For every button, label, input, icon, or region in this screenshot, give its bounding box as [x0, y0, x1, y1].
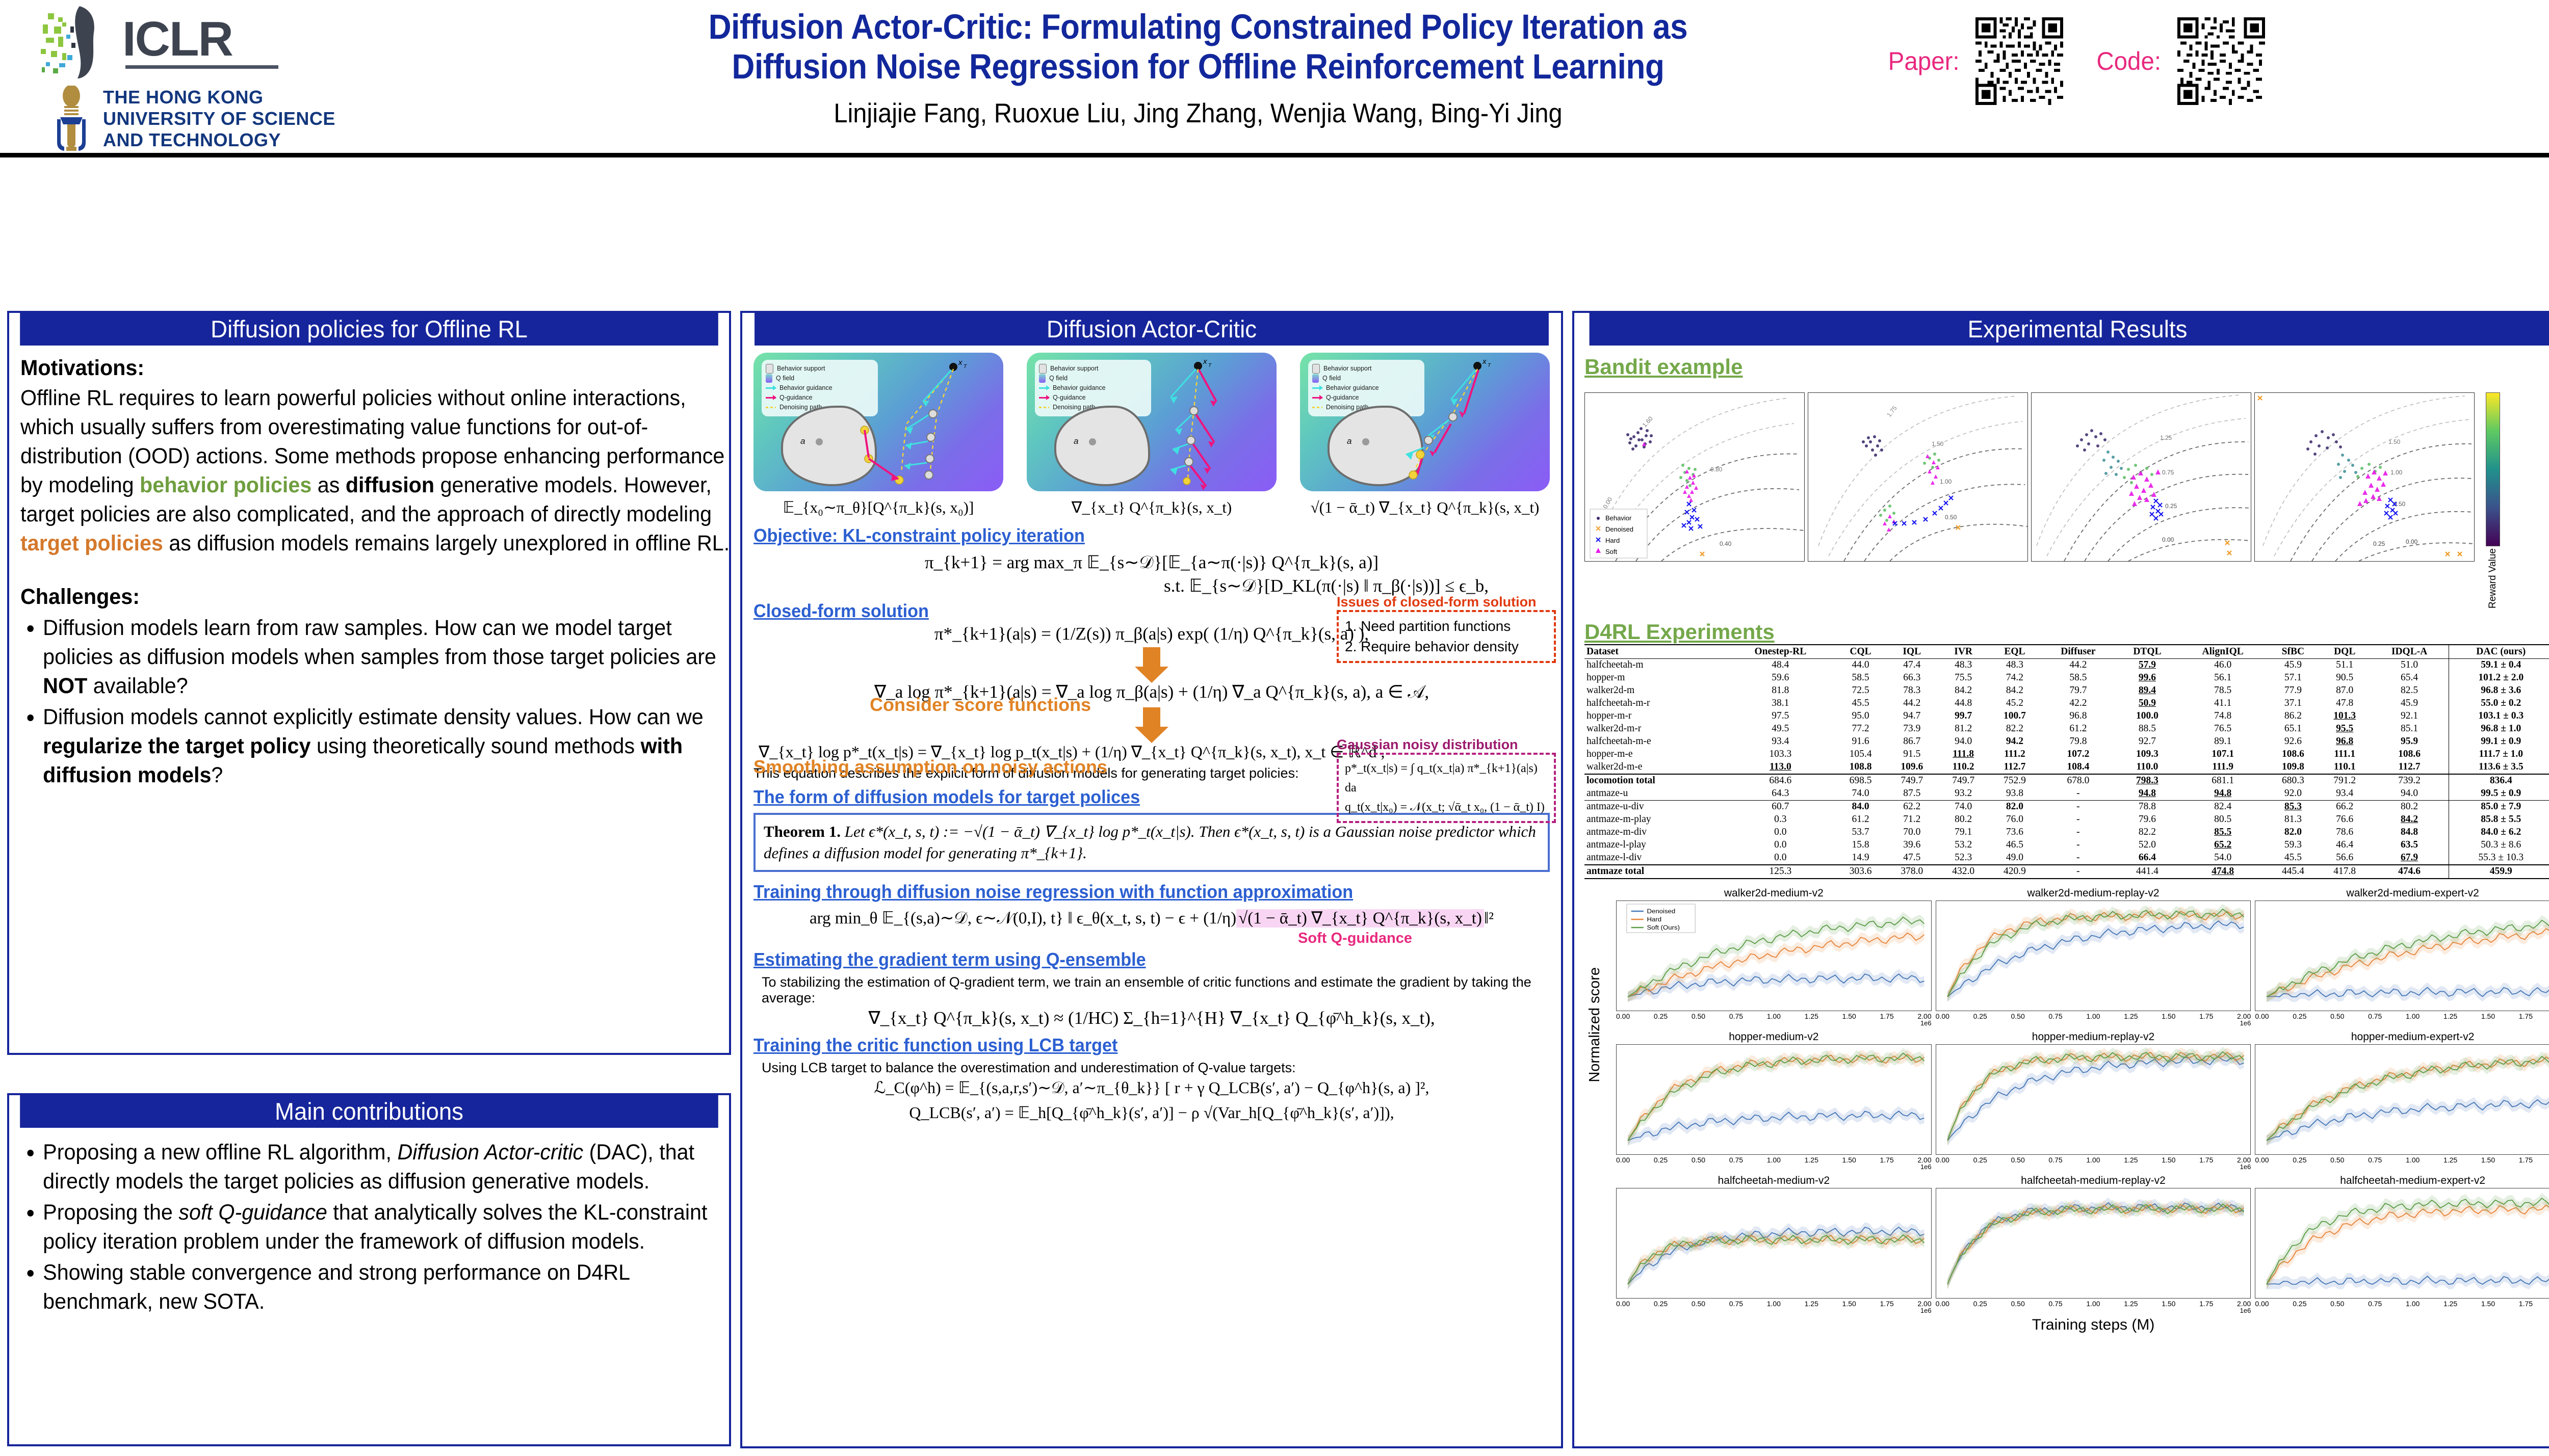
table-cell: 57.1 — [2267, 672, 2319, 684]
x-tick: 1.50 — [2481, 1156, 2495, 1164]
row-label: antmaze-l-play — [1584, 839, 1726, 852]
table-cell: 77.2 — [1835, 723, 1886, 735]
challenge-1-b: available? — [87, 674, 188, 698]
qr-code-block: Paper: — [1886, 17, 2265, 105]
table-cell: 56.6 — [2319, 852, 2371, 865]
table-cell: 432.0 — [1938, 865, 1989, 879]
curve-exponent: 1e6 — [1616, 1163, 1932, 1171]
table-cell: 82.2 — [2116, 826, 2178, 839]
curve-plot — [1936, 1188, 2251, 1299]
table-cell: 67.9 — [2371, 852, 2449, 865]
iclr-wordmark: ICLR — [122, 11, 232, 67]
x-tick: 1.50 — [2481, 1300, 2495, 1308]
curve-plot — [1936, 1044, 2251, 1155]
equation-training-part-a: arg min_θ 𝔼_{(s,a)∼𝒟, ϵ∼𝒩(0,I), t} ‖ ϵ_θ… — [810, 909, 1236, 928]
curve-title: walker2d-medium-expert-v2 — [2255, 887, 2549, 899]
equation-lcb-target: Q_LCB(s′, a′) = 𝔼_h[Q_{φ̄^h_k}(s′, a′)] … — [753, 1103, 1550, 1122]
x-tick: 0.00 — [2255, 1300, 2269, 1308]
table-cell: 86.2 — [2267, 710, 2319, 723]
table-cell: 46.4 — [2319, 839, 2371, 852]
table-cell: 445.4 — [2267, 865, 2319, 879]
x-tick: 1.00 — [1767, 1156, 1781, 1164]
table-cell: 94.8 — [2178, 787, 2267, 801]
table-cell: - — [2040, 813, 2116, 826]
challenge-1-a: Diffusion models learn from raw samples.… — [43, 616, 716, 669]
panel-experimental-results: Experimental Results Bandit example 1.60… — [1572, 311, 2549, 1448]
column-header: CQL — [1835, 645, 1886, 659]
table-cell: 113.6 ± 3.5 — [2449, 761, 2549, 774]
x-tick: 0.50 — [1692, 1300, 1705, 1308]
x-tick: 1.25 — [2443, 1156, 2457, 1164]
table-cell: 59.3 — [2267, 839, 2319, 852]
table-cell: 684.6 — [1726, 774, 1835, 787]
curve-title: walker2d-medium-replay-v2 — [1936, 887, 2251, 899]
table-cell: 76.0 — [1989, 813, 2041, 826]
x-tick: 1.75 — [2199, 1300, 2213, 1308]
issue-item-2: 2. Require behavior density — [1345, 637, 1548, 657]
challenges-list: Diffusion models learn from raw samples.… — [20, 614, 740, 790]
svg-text:Hard: Hard — [1605, 537, 1620, 544]
table-cell: 474.6 — [2371, 865, 2449, 879]
x-tick: 1.00 — [1767, 1012, 1781, 1020]
table-cell: 82.0 — [1989, 800, 2041, 813]
table-cell: 95.9 — [2371, 735, 2449, 748]
x-tick: 1.25 — [2124, 1156, 2138, 1164]
x-tick: 1.00 — [2086, 1156, 2100, 1164]
figure-caption-2: ∇_{x_t} Q^{π_k}(s, x_t) — [1027, 498, 1277, 517]
list-item: Diffusion models cannot explicitly estim… — [43, 703, 740, 790]
contribution-2-a: Proposing the — [43, 1200, 178, 1225]
table-cell: 44.2 — [1886, 697, 1938, 710]
table-cell: 62.2 — [1886, 800, 1938, 813]
table-cell: 95.0 — [1835, 710, 1886, 723]
row-label: antmaze-m-play — [1584, 813, 1726, 826]
list-item: Diffusion models learn from raw samples.… — [43, 614, 740, 701]
equation-training-part-b: ‖² — [1484, 909, 1494, 928]
list-item: Proposing the soft Q-guidance that analy… — [43, 1198, 740, 1256]
table-cell: - — [2040, 839, 2116, 852]
challenges-heading: Challenges: — [20, 583, 740, 612]
table-cell: 89.1 — [2178, 735, 2267, 748]
table-cell: 47.8 — [2319, 697, 2371, 710]
x-tick: 0.50 — [2011, 1156, 2025, 1164]
iclr-logo: ICLR — [31, 4, 362, 81]
table-cell: 92.0 — [2267, 787, 2319, 801]
curve-exponent: 1e6 — [1616, 1019, 1932, 1027]
table-row: hopper-m-e103.3105.491.5111.8111.2107.21… — [1584, 748, 2549, 761]
challenge-2-regularize: regularize the target policy — [43, 734, 310, 758]
list-item: Proposing a new offline RL algorithm, Di… — [43, 1138, 740, 1196]
row-label: walker2d-m-r — [1584, 723, 1726, 735]
table-row: halfcheetah-m48.444.047.448.348.344.257.… — [1584, 658, 2549, 672]
hkust-wordmark: THE HONG KONG UNIVERSITY OF SCIENCE AND … — [103, 87, 335, 151]
x-tick: 1.00 — [2406, 1156, 2420, 1164]
section-training: Training through diffusion noise regress… — [753, 881, 1353, 903]
panel-diffusion-actor-critic: Diffusion Actor-Critic Behavior support … — [740, 311, 1563, 1448]
learning-curve-panel: hopper-medium-expert-v20.000.250.500.751… — [2255, 1031, 2549, 1171]
x-tick: 0.75 — [1729, 1300, 1743, 1308]
column-header: DTQL — [2116, 645, 2178, 659]
row-label: antmaze-l-div — [1584, 852, 1726, 865]
table-cell: 46.0 — [2178, 658, 2267, 672]
table-cell: - — [2040, 787, 2116, 801]
illustration-figures: Behavior support Q field Behavior guidan… — [742, 346, 1561, 517]
curve-plot — [2255, 1188, 2549, 1299]
table-cell: 94.2 — [1989, 735, 2041, 748]
table-cell: 51.1 — [2319, 658, 2371, 672]
table-cell: 99.1 ± 0.9 — [2449, 735, 2549, 748]
paper-qr-code[interactable] — [1975, 17, 2063, 105]
column-header: EQL — [1989, 645, 2041, 659]
challenge-2-a: Diffusion models cannot explicitly estim… — [43, 705, 704, 729]
equation-training: arg min_θ 𝔼_{(s,a)∼𝒟, ϵ∼𝒩(0,I), t} ‖ ϵ_θ… — [753, 908, 1550, 928]
author-list: Linjiajie Fang, Ruoxue Liu, Jing Zhang, … — [607, 98, 1789, 129]
table-cell: 48.4 — [1726, 658, 1835, 672]
table-cell: 73.6 — [1989, 826, 2041, 839]
table-row: antmaze total125.3303.6378.0432.0420.9-4… — [1584, 865, 2549, 879]
figure-caption-1: 𝔼_{x₀∼π_θ}[Q^{π_k}(s, x₀)] — [753, 498, 1003, 517]
x-tick: 0.50 — [2330, 1156, 2344, 1164]
curve-x-ticks: 0.000.250.500.751.001.251.501.752.00 — [1616, 1156, 1932, 1164]
x-tick: 0.00 — [1616, 1300, 1630, 1308]
table-cell: - — [2040, 826, 2116, 839]
motivations-target-policies: target policies — [20, 531, 163, 555]
svg-text:1.75: 1.75 — [1885, 405, 1898, 418]
row-label: halfcheetah-m-e — [1584, 735, 1726, 748]
table-row: locomotion total684.6698.5749.7749.7752.… — [1584, 774, 2549, 787]
x-tick: 0.00 — [1936, 1012, 1949, 1020]
column-header: Dataset — [1584, 645, 1726, 659]
table-cell: 65.2 — [2178, 839, 2267, 852]
contribution-1-a: Proposing a new offline RL algorithm, — [43, 1140, 397, 1164]
theorem-label: Theorem 1. — [764, 823, 841, 840]
table-cell: 57.9 — [2116, 658, 2178, 672]
x-tick: 0.25 — [1973, 1156, 1987, 1164]
table-cell: 65.4 — [2371, 672, 2449, 684]
table-cell: 78.5 — [2178, 684, 2267, 697]
table-cell: 84.2 — [1989, 684, 2041, 697]
table-cell: 41.1 — [2178, 697, 2267, 710]
bandit-scatter-4: 1.50 1.00 0.50 0.25 0.00 — [2255, 393, 2474, 561]
table-row: antmaze-m-play0.361.271.280.276.0-79.680… — [1584, 813, 2549, 826]
curve-plot: DenoisedHardSoft (Ours) — [1616, 901, 1932, 1011]
challenge-1-not: NOT — [43, 674, 87, 698]
figure-caption-3: √(1 − ᾱ_t) ∇_{x_t} Q^{π_k}(s, x_t) — [1300, 498, 1550, 517]
learning-curve-panel: hopper-medium-v20.000.250.500.751.001.25… — [1616, 1031, 1932, 1171]
table-cell: 65.1 — [2267, 723, 2319, 735]
column-header: IQL — [1886, 645, 1938, 659]
table-cell: 113.0 — [1726, 761, 1835, 774]
section-q-ensemble: Estimating the gradient term using Q-ens… — [753, 949, 1146, 970]
table-cell: 14.9 — [1835, 852, 1886, 865]
x-tick: 0.25 — [1654, 1300, 1668, 1308]
table-cell: 60.7 — [1726, 800, 1835, 813]
svg-text:x: x — [958, 358, 963, 367]
page-title-line-2: Diffusion Noise Regression for Offline R… — [620, 47, 1776, 87]
table-cell: 15.8 — [1835, 839, 1886, 852]
svg-text:Soft: Soft — [1605, 548, 1618, 555]
table-cell: 99.5 ± 0.9 — [2449, 787, 2549, 801]
gaussian-title: Gaussian noisy distribution — [1337, 737, 1518, 753]
table-cell: 103.1 ± 0.3 — [2449, 710, 2549, 723]
bandit-scatter-2: 1.75 1.50 1.00 0.50 — [1808, 393, 2027, 561]
table-cell: 96.8 ± 1.0 — [2449, 723, 2549, 735]
x-tick: 0.50 — [2011, 1012, 2025, 1020]
table-cell: 93.4 — [2319, 787, 2371, 801]
table-cell: 73.9 — [1886, 723, 1938, 735]
curve-title: halfcheetah-medium-v2 — [1616, 1175, 1932, 1187]
table-cell: 48.3 — [1989, 658, 2041, 672]
x-tick: 0.75 — [1729, 1156, 1743, 1164]
equation-q-ensemble: ∇_{x_t} Q^{π_k}(s, x_t) ≈ (1/HC) Σ_{h=1}… — [753, 1008, 1550, 1028]
issue-item-1: 1. Need partition functions — [1345, 616, 1548, 637]
row-label: halfcheetah-m-r — [1584, 697, 1726, 710]
x-tick: 1.50 — [2481, 1012, 2495, 1020]
x-tick: 0.50 — [1692, 1012, 1705, 1020]
motivations-heading: Motivations: — [20, 354, 740, 383]
table-cell: 125.3 — [1726, 865, 1835, 879]
table-cell: 94.0 — [2371, 787, 2449, 801]
row-label: walker2d-m — [1584, 684, 1726, 697]
table-cell: 112.7 — [2371, 761, 2449, 774]
x-tick: 1.25 — [1805, 1156, 1818, 1164]
bandit-panel-3: 1.25 0.75 0.25 0.00 — [2031, 392, 2251, 562]
table-cell: 79.1 — [1938, 826, 1989, 839]
learning-curves-block: Normalized score walker2d-medium-v2Denoi… — [1584, 887, 2549, 1334]
curves-y-axis-label: Normalized score — [1586, 967, 1603, 1082]
hkust-torch-icon — [46, 86, 97, 152]
table-cell: 58.5 — [1835, 672, 1886, 684]
table-cell: 80.5 — [2178, 813, 2267, 826]
row-label: walker2d-m-e — [1584, 761, 1726, 774]
x-tick: 0.75 — [2048, 1012, 2062, 1020]
x-tick: 0.75 — [2368, 1156, 2382, 1164]
motivations-text-d: as diffusion models remains largely unex… — [163, 531, 730, 555]
table-cell: 64.3 — [1726, 787, 1835, 801]
curves-x-axis-label: Training steps (M) — [1616, 1316, 2549, 1334]
table-row: antmaze-u-div60.784.062.274.082.0-78.882… — [1584, 800, 2549, 813]
table-cell: 0.0 — [1726, 839, 1835, 852]
table-cell: 82.4 — [2178, 800, 2267, 813]
table-cell: 378.0 — [1886, 865, 1938, 879]
table-cell: 110.1 — [2319, 761, 2371, 774]
x-tick: 1.75 — [2519, 1156, 2533, 1164]
x-tick: 1.50 — [2162, 1300, 2175, 1308]
table-cell: 52.3 — [1938, 852, 1989, 865]
table-cell: 53.7 — [1835, 826, 1886, 839]
diffusion-illustration-1: Behavior support Q field Behavior guidan… — [753, 353, 1003, 491]
table-row: walker2d-m-e113.0108.8109.6110.2112.7108… — [1584, 761, 2549, 774]
table-cell: 44.2 — [2040, 658, 2116, 672]
column-header: DAC (ours) — [2449, 645, 2549, 659]
svg-text:Denoised: Denoised — [1605, 525, 1633, 533]
curve-x-ticks: 0.000.250.500.751.001.251.501.752.00 — [1616, 1300, 1932, 1308]
table-cell: 59.1 ± 0.4 — [2449, 658, 2549, 672]
table-cell: 79.6 — [2116, 813, 2178, 826]
table-cell: 108.8 — [1835, 761, 1886, 774]
colorbar-gradient — [2486, 392, 2500, 546]
x-tick: 0.25 — [1973, 1300, 1987, 1308]
x-tick: 1.25 — [1805, 1300, 1818, 1308]
column-header: SfBC — [2267, 645, 2319, 659]
row-label: halfcheetah-m — [1584, 658, 1726, 672]
svg-text:0.00: 0.00 — [2162, 536, 2174, 543]
table-row: antmaze-l-play0.015.839.653.246.5-52.065… — [1584, 839, 2549, 852]
curve-x-ticks: 0.000.250.500.751.001.251.501.752.00 — [1936, 1156, 2251, 1164]
table-cell: 85.3 — [2267, 800, 2319, 813]
svg-text:0.00: 0.00 — [2406, 538, 2418, 545]
curve-exponent: 1e6 — [2255, 1019, 2549, 1027]
table-cell: 103.3 — [1726, 748, 1835, 761]
x-tick: 0.75 — [2048, 1300, 2062, 1308]
table-cell: 80.2 — [1938, 813, 1989, 826]
paper-qr-label: Paper: — [1888, 46, 1960, 76]
svg-text:1.00: 1.00 — [2390, 469, 2403, 476]
x-tick: 1.75 — [1880, 1300, 1893, 1308]
table-cell: 108.4 — [2040, 761, 2116, 774]
table-cell: 45.2 — [1989, 697, 2041, 710]
curve-legend-label: Hard — [1647, 916, 1661, 922]
page-title-line-1: Diffusion Actor-Critic: Formulating Cons… — [620, 7, 1776, 47]
x-tick: 0.50 — [2330, 1300, 2344, 1308]
x-tick: 1.00 — [2086, 1300, 2100, 1308]
column-header: DQL — [2319, 645, 2371, 659]
table-cell: 48.3 — [1938, 658, 1989, 672]
contribution-2-italic: soft Q-guidance — [178, 1200, 327, 1225]
note-q-ensemble: To stabilizing the estimation of Q-gradi… — [753, 974, 1550, 1006]
table-cell: 110.2 — [1938, 761, 1989, 774]
header-divider — [0, 153, 2549, 157]
table-cell: 56.1 — [2178, 672, 2267, 684]
gaussian-callout: Gaussian noisy distribution p*_t(x_t|s) … — [1337, 737, 1556, 823]
table-cell: 94.7 — [1886, 710, 1938, 723]
x-tick: 0.25 — [1654, 1156, 1668, 1164]
table-cell: 836.4 — [2449, 774, 2549, 787]
table-cell: 49.5 — [1726, 723, 1835, 735]
curve-plot — [1936, 901, 2251, 1011]
code-qr-label: Code: — [2097, 46, 2162, 76]
section-form-of-diffusion: The form of diffusion models for target … — [753, 786, 1140, 808]
table-cell: 698.5 — [1835, 774, 1886, 787]
column-header: Diffuser — [2040, 645, 2116, 659]
table-cell: 89.4 — [2116, 684, 2178, 697]
figure-card-1: Behavior support Q field Behavior guidan… — [753, 353, 1003, 517]
table-cell: 74.8 — [2178, 710, 2267, 723]
poster-header: ICLR THE HONG KONG UNIVERSITY OF SCIENCE… — [0, 0, 2549, 156]
table-row: halfcheetah-m-e93.491.686.794.094.279.89… — [1584, 735, 2549, 748]
table-cell: 90.5 — [2319, 672, 2371, 684]
x-tick: 1.25 — [2443, 1300, 2457, 1308]
contribution-3-a: Showing stable convergence and strong pe… — [43, 1260, 629, 1314]
table-cell: 61.2 — [2040, 723, 2116, 735]
note-lcb: Using LCB target to balance the overesti… — [753, 1060, 1550, 1076]
table-cell: 47.4 — [1886, 658, 1938, 672]
table-cell: - — [2040, 800, 2116, 813]
x-tick: 1.00 — [2406, 1300, 2420, 1308]
table-cell: 86.7 — [1886, 735, 1938, 748]
row-label: hopper-m-e — [1584, 748, 1726, 761]
table-cell: 77.9 — [2267, 684, 2319, 697]
bandit-colorbar: Reward Value — [2482, 392, 2504, 608]
table-cell: 749.7 — [1938, 774, 1989, 787]
table-cell: 84.0 ± 6.2 — [2449, 826, 2549, 839]
x-tick: 1.25 — [2443, 1012, 2457, 1020]
x-tick: 0.00 — [1936, 1156, 1949, 1164]
x-tick: 1.50 — [2162, 1156, 2175, 1164]
table-cell: 96.8 — [2040, 710, 2116, 723]
table-cell: 94.8 — [2116, 787, 2178, 801]
curve-title: halfcheetah-medium-expert-v2 — [2255, 1175, 2549, 1187]
table-cell: 107.1 — [2178, 748, 2267, 761]
table-cell: 85.1 — [2371, 723, 2449, 735]
arrow-label-score-functions: Consider score functions — [870, 694, 1091, 716]
table-row: antmaze-l-div0.014.947.552.349.0-66.454.… — [1584, 852, 2549, 865]
bandit-panel-1: 1.60 0.80 0.40 0.00 — [1584, 392, 1805, 562]
table-cell: 46.5 — [1989, 839, 2041, 852]
equation-training-soft-q: √(1 − ᾱ_t) ∇_{x_t} Q^{π_k}(s, x_t) — [1236, 909, 1484, 928]
table-cell: 678.0 — [2040, 774, 2116, 787]
x-tick: 1.00 — [2406, 1012, 2420, 1020]
table-cell: 74.0 — [1938, 800, 1989, 813]
svg-text:1.50: 1.50 — [1932, 440, 1944, 447]
table-cell: 111.9 — [2178, 761, 2267, 774]
table-cell: 417.8 — [2319, 865, 2371, 879]
x-tick: 1.75 — [2199, 1012, 2213, 1020]
table-cell: 49.0 — [1989, 852, 2041, 865]
table-cell: 52.0 — [2116, 839, 2178, 852]
middle-column: Diffusion Actor-Critic Behavior support … — [740, 311, 1563, 1448]
column-header: IDQL-A — [2371, 645, 2449, 659]
panel-main-contributions: Main contributions Proposing a new offli… — [7, 1093, 731, 1446]
table-cell: 0.3 — [1726, 813, 1835, 826]
iclr-underline — [125, 65, 278, 69]
hkust-logo: THE HONG KONG UNIVERSITY OF SCIENCE AND … — [46, 86, 382, 152]
learning-curve-panel: halfcheetah-medium-expert-v20.000.250.50… — [2255, 1175, 2549, 1314]
gaussian-equation-1: p*_t(x_t|s) = ∫ q_t(x_t|a) π*_{k+1}(a|s)… — [1345, 759, 1548, 798]
table-cell: 85.5 — [2178, 826, 2267, 839]
table-cell: 0.0 — [1726, 826, 1835, 839]
table-cell: 93.4 — [1726, 735, 1835, 748]
svg-text:1.25: 1.25 — [2160, 434, 2172, 441]
table-cell: 107.2 — [2040, 748, 2116, 761]
x-tick: 1.00 — [2086, 1012, 2100, 1020]
code-qr-code[interactable] — [2177, 17, 2265, 105]
curve-title: walker2d-medium-v2 — [1616, 887, 1932, 899]
svg-text:1.00: 1.00 — [1940, 478, 1952, 485]
table-cell: 78.8 — [2116, 800, 2178, 813]
x-tick: 0.75 — [2048, 1156, 2062, 1164]
panel-experimental-results-title: Experimental Results — [1590, 313, 2549, 346]
table-cell: 84.2 — [1938, 684, 1989, 697]
issues-title: Issues of closed-form solution — [1337, 594, 1537, 610]
table-cell: 97.5 — [1726, 710, 1835, 723]
table-cell: 55.3 ± 10.3 — [2449, 852, 2549, 865]
svg-text:x: x — [1482, 357, 1487, 366]
x-tick: 1.00 — [1767, 1300, 1781, 1308]
curve-exponent: 1e6 — [2255, 1307, 2549, 1314]
table-cell: 79.8 — [2040, 735, 2116, 748]
x-tick: 0.75 — [1729, 1012, 1743, 1020]
table-cell: 84.8 — [2371, 826, 2449, 839]
learning-curves-grid: walker2d-medium-v2DenoisedHardSoft (Ours… — [1616, 887, 2549, 1314]
svg-text:T: T — [1488, 363, 1491, 368]
section-lcb: Training the critic function using LCB t… — [753, 1035, 1117, 1056]
bandit-panel-4: 1.50 1.00 0.50 0.25 0.00 — [2254, 392, 2475, 562]
table-cell: 105.4 — [1835, 748, 1886, 761]
x-tick: 1.50 — [1842, 1300, 1856, 1308]
table-cell: 47.5 — [1886, 852, 1938, 865]
table-cell: 74.2 — [1989, 672, 2041, 684]
